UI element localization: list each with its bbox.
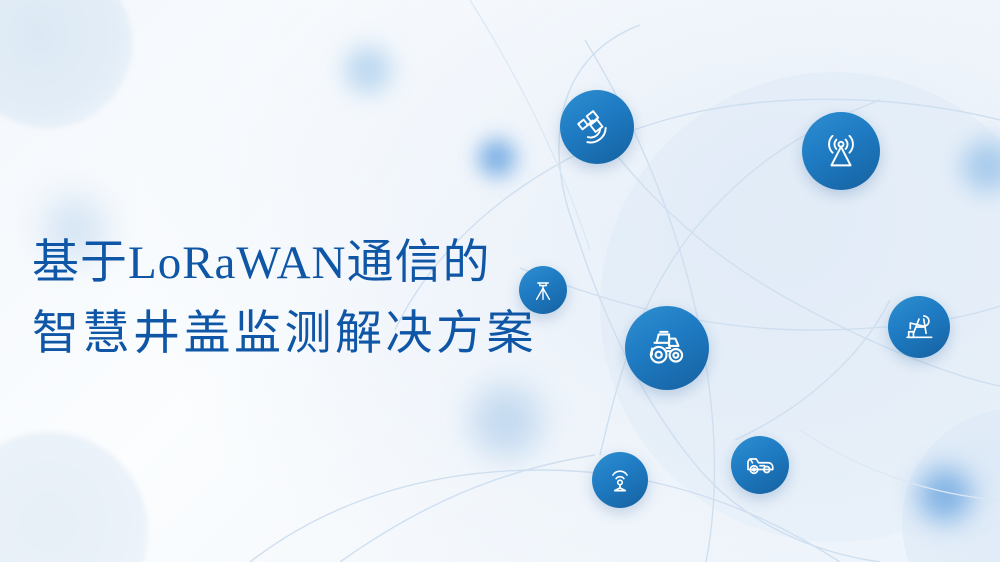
radio-tower-icon [818, 128, 864, 174]
signal-beacon-icon [603, 463, 637, 497]
signal-beacon-node[interactable] [592, 452, 648, 508]
title-block: 基于LoRaWAN通信的 智慧井盖监测解决方案 [32, 228, 572, 371]
decorative-sphere-bottom-right [902, 408, 1000, 562]
decorative-dot-bottom-right [918, 468, 972, 522]
satellite-icon [575, 105, 619, 149]
decorative-dot-top [344, 46, 392, 94]
title-line-2: 智慧井盖监测解决方案 [32, 299, 572, 370]
title-line-1: 基于LoRaWAN通信的 [32, 228, 572, 299]
oil-pump-node[interactable] [888, 296, 950, 358]
decorative-dot-center [470, 385, 542, 457]
slide-canvas: 基于LoRaWAN通信的 智慧井盖监测解决方案 [0, 0, 1000, 562]
tractor-icon [642, 323, 692, 373]
decorative-dot-accent [478, 139, 516, 177]
radio-tower-node[interactable] [802, 112, 880, 190]
decorative-blob-bottom-left [0, 432, 148, 562]
decorative-blob-top-left [0, 0, 132, 128]
lawn-mower-icon [742, 447, 778, 483]
tractor-node[interactable] [625, 306, 709, 390]
lawn-mower-node[interactable] [731, 436, 789, 494]
decorative-dot-right [962, 140, 1000, 192]
satellite-node[interactable] [560, 90, 634, 164]
oil-pump-icon [900, 308, 938, 346]
